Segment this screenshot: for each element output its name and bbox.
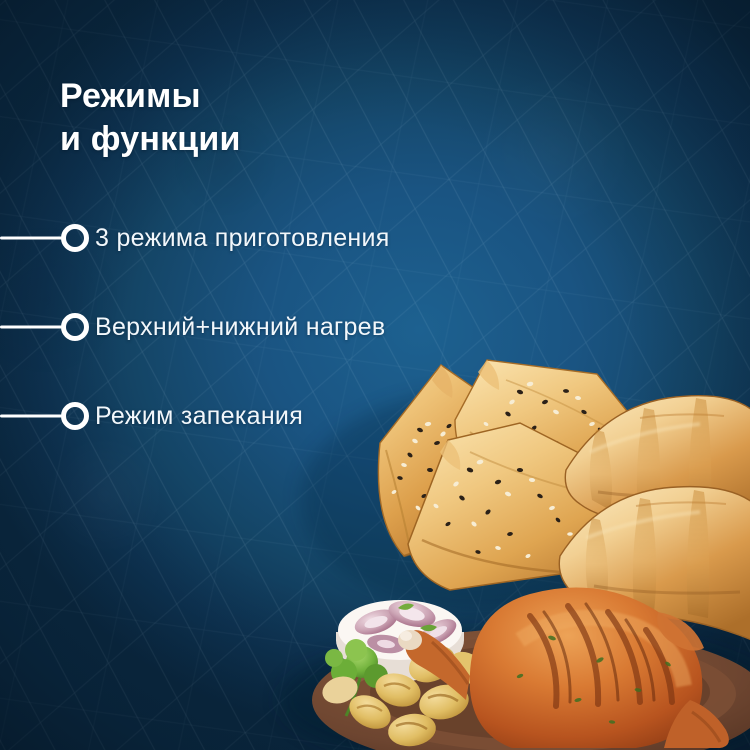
ring-bullet-icon (61, 313, 89, 341)
promo-banner: Режимы и функции 3 режима приготовления … (0, 0, 750, 750)
feature-item-3: Режим запекания (0, 392, 750, 440)
feature-list: 3 режима приготовления Верхний+нижний на… (0, 214, 750, 440)
feature-item-1: 3 режима приготовления (0, 214, 750, 262)
page-title: Режимы и функции (60, 75, 241, 161)
feature-label: 3 режима приготовления (95, 226, 390, 251)
feature-label: Верхний+нижний нагрев (95, 315, 385, 340)
ring-bullet-icon (61, 224, 89, 252)
connector-line-icon (0, 237, 64, 240)
ring-bullet-icon (61, 402, 89, 430)
connector-line-icon (0, 326, 64, 329)
feature-label: Режим запекания (95, 404, 303, 429)
feature-item-2: Верхний+нижний нагрев (0, 303, 750, 351)
connector-line-icon (0, 415, 64, 418)
